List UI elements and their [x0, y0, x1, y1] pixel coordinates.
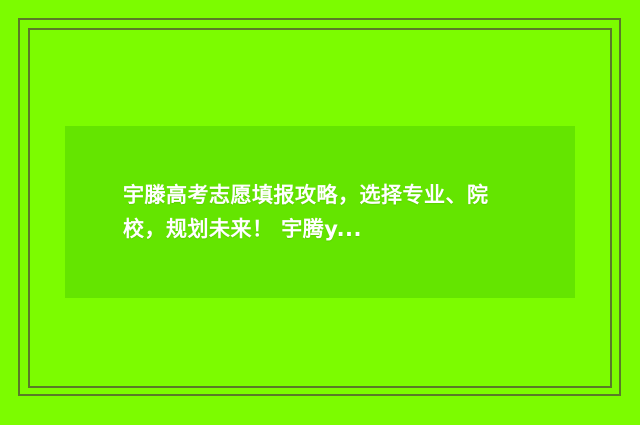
caption-overlay-panel: 宇滕高考志愿填报攻略，选择专业、院校，规划未来！ 宇腾y...	[65, 126, 575, 298]
thumbnail-canvas: 宇滕高考志愿填报攻略，选择专业、院校，规划未来！ 宇腾y...	[0, 0, 640, 425]
caption-title-text: 宇滕高考志愿填报攻略，选择专业、院校，规划未来！ 宇腾y...	[123, 178, 517, 246]
